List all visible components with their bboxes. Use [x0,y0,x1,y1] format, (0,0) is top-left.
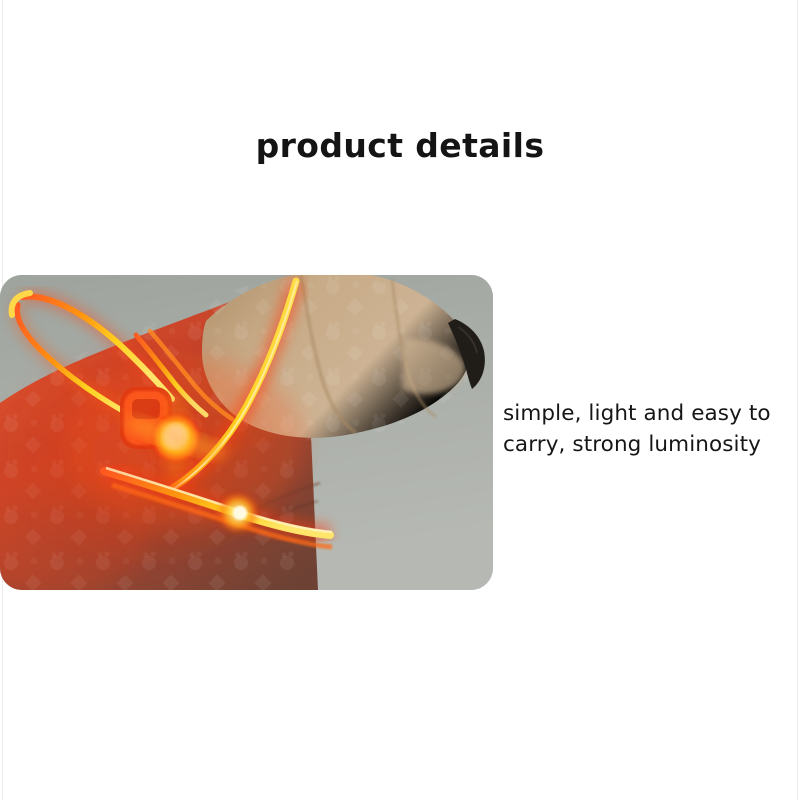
product-photo [0,275,493,590]
product-photo-image [0,275,493,590]
product-caption: simple, light and easy to carry, strong … [503,398,793,460]
caption-line-1: simple, light and easy to [503,398,793,429]
caption-line-2: carry, strong luminosity [503,429,793,460]
right-edge-rule [797,0,798,800]
page-title: product details [0,126,800,166]
page-root: product details [0,0,800,800]
